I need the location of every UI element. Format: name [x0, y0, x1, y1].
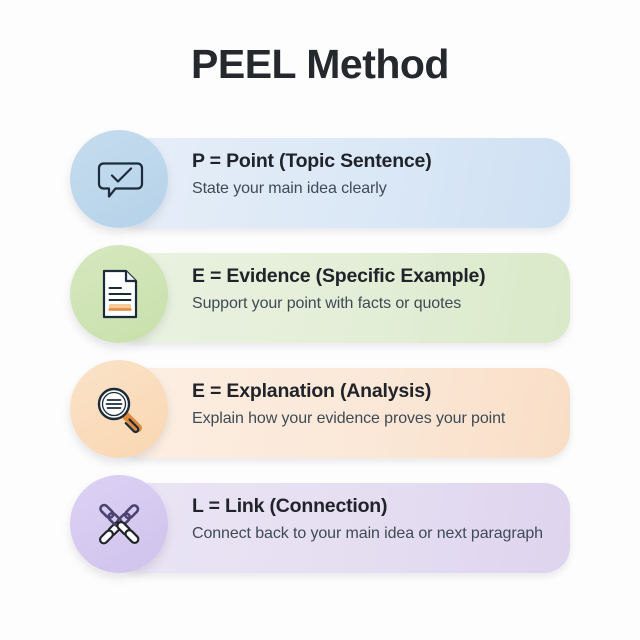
step-text-block: L = Link (Connection) Connect back to yo…: [192, 494, 562, 544]
step-icon-badge: [70, 475, 168, 573]
step-icon-badge: [70, 360, 168, 458]
step-text-block: E = Explanation (Analysis) Explain how y…: [192, 379, 562, 429]
step-subtitle: Connect back to your main idea or next p…: [192, 524, 562, 544]
crossed-chain-links-icon: [91, 496, 147, 552]
step-title: E = Evidence (Specific Example): [192, 264, 562, 288]
step-title: L = Link (Connection): [192, 494, 562, 518]
step-icon-badge: [70, 245, 168, 343]
step-icon-badge: [70, 130, 168, 228]
list-item[interactable]: E = Evidence (Specific Example) Support …: [0, 245, 640, 360]
page-title: PEEL Method: [0, 40, 640, 89]
step-subtitle: Support your point with facts or quotes: [192, 294, 562, 314]
infographic-canvas: PEEL Method P = Point (Topic Sentence) S…: [0, 0, 640, 640]
step-subtitle: State your main idea clearly: [192, 179, 562, 199]
list-item[interactable]: L = Link (Connection) Connect back to yo…: [0, 475, 640, 590]
list-item[interactable]: E = Explanation (Analysis) Explain how y…: [0, 360, 640, 475]
step-text-block: E = Evidence (Specific Example) Support …: [192, 264, 562, 314]
speech-bubble-check-icon: [91, 151, 147, 207]
step-title: P = Point (Topic Sentence): [192, 149, 562, 173]
step-text-block: P = Point (Topic Sentence) State your ma…: [192, 149, 562, 199]
step-subtitle: Explain how your evidence proves your po…: [192, 409, 562, 429]
steps-list: P = Point (Topic Sentence) State your ma…: [0, 130, 640, 590]
document-lines-icon: [91, 266, 147, 322]
step-title: E = Explanation (Analysis): [192, 379, 562, 403]
magnifying-glass-icon: [91, 381, 147, 437]
list-item[interactable]: P = Point (Topic Sentence) State your ma…: [0, 130, 640, 245]
